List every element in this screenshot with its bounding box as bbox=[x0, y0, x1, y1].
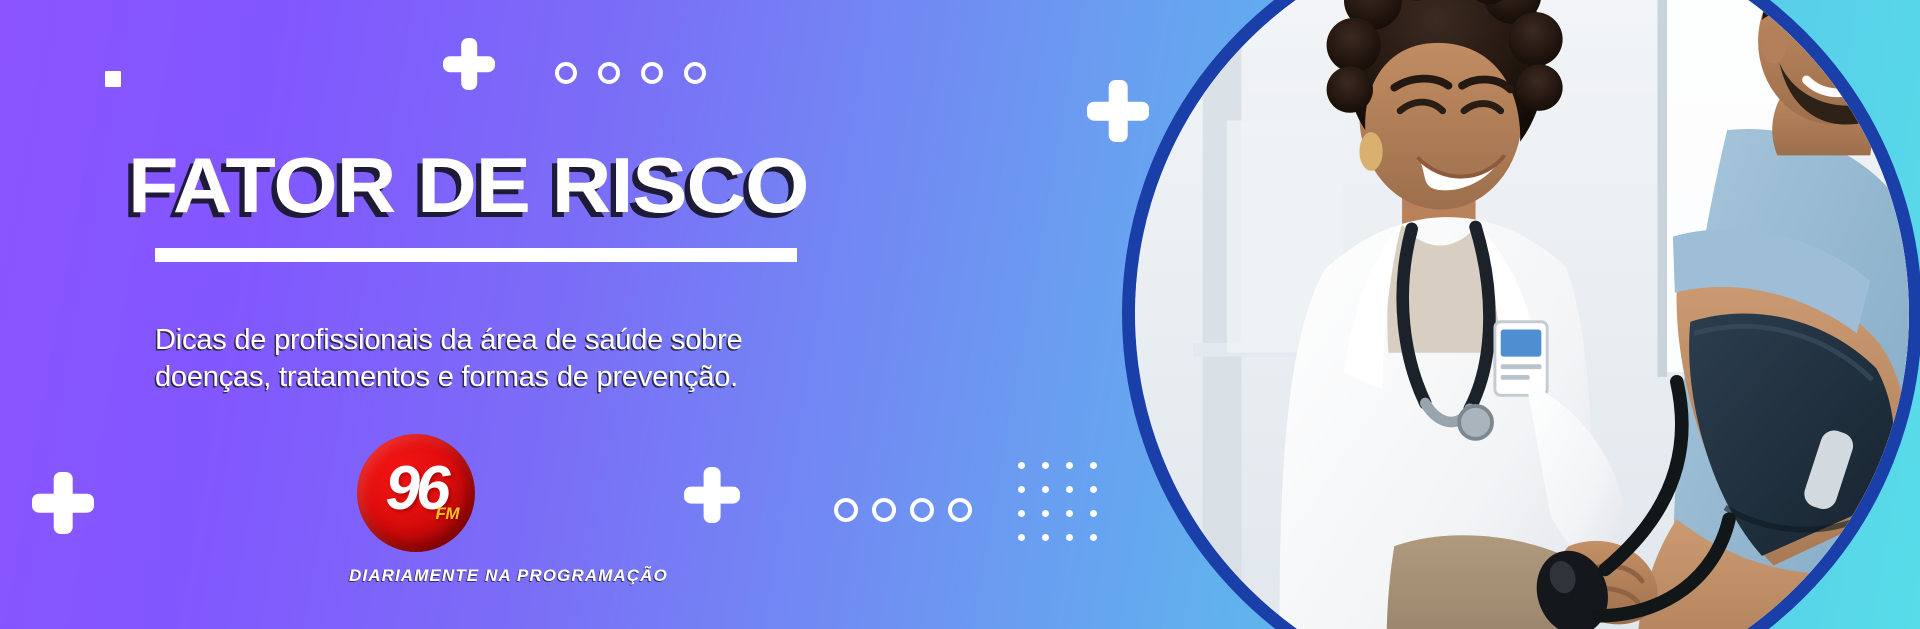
photo-illustration bbox=[1135, 0, 1909, 629]
content-column: FATOR DE RISCO Dicas de profissionais da… bbox=[0, 0, 860, 629]
subtitle-text: Dicas de profissionais da área de saúde … bbox=[155, 322, 855, 396]
ring-icon bbox=[910, 498, 934, 522]
logo-caption: DIARIAMENTE NA PROGRAMAÇÃO bbox=[349, 566, 473, 586]
health-risk-banner: FATOR DE RISCO Dicas de profissionais da… bbox=[0, 0, 1920, 629]
radio-logo[interactable]: 96 FM DIARIAMENTE NA PROGRAMAÇÃO bbox=[354, 434, 478, 586]
plus-icon-upper-right bbox=[1087, 80, 1149, 142]
photo-medallion bbox=[1122, 0, 1920, 629]
doctor-patient-photo bbox=[1135, 0, 1909, 629]
logo-fm-suffix: FM bbox=[435, 504, 459, 524]
dot-grid-icon-bottom bbox=[1018, 462, 1097, 541]
ring-icon bbox=[948, 498, 972, 522]
title-underline bbox=[155, 248, 797, 262]
ring-icon bbox=[872, 498, 896, 522]
logo-circle-icon: 96 FM bbox=[357, 434, 475, 552]
page-title: FATOR DE RISCO bbox=[128, 140, 808, 231]
